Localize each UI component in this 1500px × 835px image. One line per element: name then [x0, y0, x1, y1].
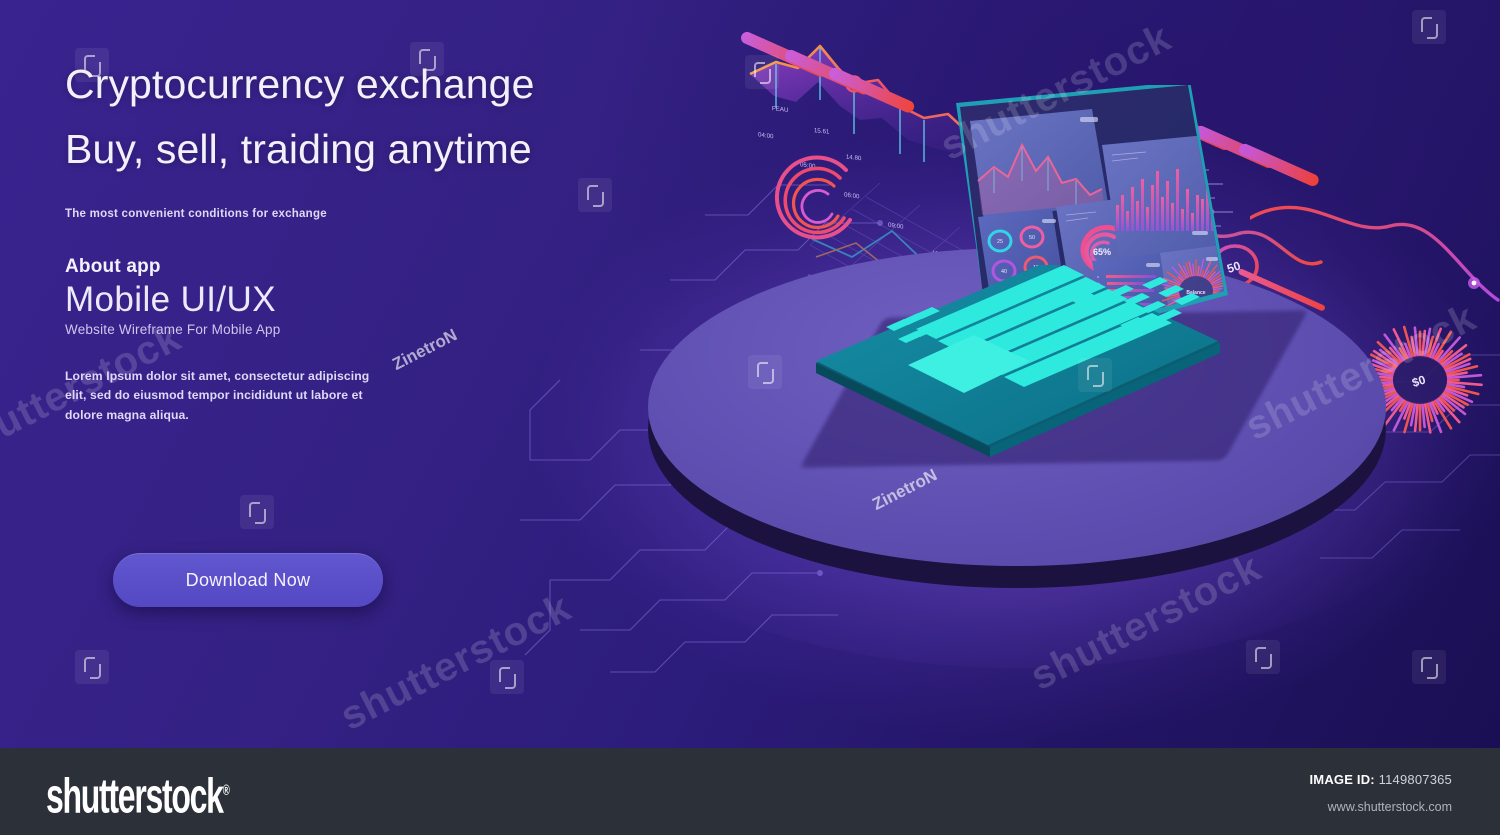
- hero-copy-block: Cryptocurrency exchange Buy, sell, traid…: [65, 52, 685, 426]
- registered-mark-icon: ®: [223, 782, 230, 799]
- watermark-badge: [1246, 640, 1280, 674]
- image-id-value: 1149807365: [1379, 772, 1452, 787]
- image-id-label: IMAGE ID:: [1309, 772, 1374, 787]
- svg-text:25: 25: [997, 239, 1003, 245]
- shutterstock-url[interactable]: www.shutterstock.com: [1328, 800, 1452, 814]
- about-subtitle: Website Wireframe For Mobile App: [65, 322, 685, 337]
- shutterstock-footer: shutterstock® IMAGE ID: 1149807365 www.s…: [0, 748, 1500, 835]
- about-body-text: Lorem Ipsum dolor sit amet, consectetur …: [65, 367, 380, 426]
- isometric-laptop: 2550 4015 65%: [808, 85, 1228, 445]
- hero-illustration-stage: FEAU 15.61 14.80 04:00 05:00 06:00 09:00…: [0, 0, 1500, 748]
- donut-value: 65%: [1093, 247, 1111, 257]
- svg-text:50: 50: [1029, 235, 1035, 241]
- watermark-badge: [1412, 10, 1446, 44]
- shutterstock-logo-text: shutterstock: [46, 770, 223, 824]
- watermark-badge: [240, 495, 274, 529]
- hero-headline-line-2: Buy, sell, traiding anytime: [65, 117, 685, 182]
- about-label: About app: [65, 256, 685, 278]
- watermark-badge: [75, 650, 109, 684]
- hero-headline-line-1: Cryptocurrency exchange: [65, 52, 685, 117]
- hero-subtitle: The most convenient conditions for excha…: [65, 208, 685, 220]
- about-title: Mobile UI/UX: [65, 280, 685, 319]
- stock-watermark: shutterstock: [334, 585, 579, 740]
- download-now-button[interactable]: Download Now: [113, 553, 383, 607]
- laptop-base: [808, 265, 1228, 465]
- shutterstock-logo: shutterstock®: [46, 770, 230, 825]
- image-id-line: IMAGE ID: 1149807365: [1309, 772, 1452, 787]
- watermark-badge: [490, 660, 524, 694]
- watermark-badge: [1412, 650, 1446, 684]
